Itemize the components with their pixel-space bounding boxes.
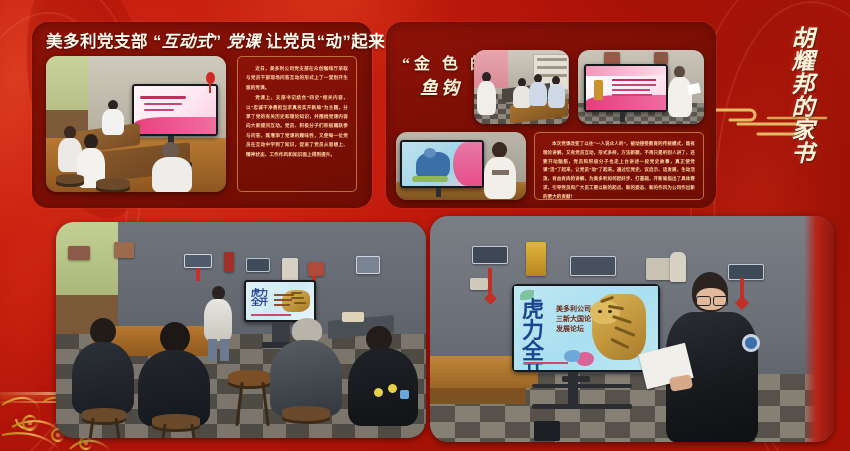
left-panel-photo[interactable] [46,56,226,192]
right-panel-photo-storytelling[interactable] [396,132,526,200]
screen-title-text: 虎力全开 [251,289,273,307]
photo-scene [46,56,226,192]
title-segment-3: 起来 [351,33,385,51]
article-paragraph: 近日，美多利公司党支部在众创咖啡厅采取与党员干部现场问答互动的形式上了一堂别开生… [246,64,348,92]
screen-subtitle-line-1: 美多利公司 [556,306,591,315]
right-panel-photo-discussion[interactable] [474,50,569,124]
poster-root: 美多利党支部 “互动式” 党课 让党员“动”起来 [0,0,850,451]
title-quote-open-2: “ [317,33,326,51]
photo-scene [474,50,569,124]
lantern-icon [206,72,215,84]
photo-scene: 虎力全开 美多利公司 三新大国论 发展论坛 [430,216,834,442]
right-panel-article: 本次党课改变了以往“一人说众人听”，被动接受教育的传统模式，既有理论讲解，又有党… [534,132,704,200]
title-segment-2: 让党员 [266,33,317,51]
article-paragraph: 党课上，支部书记结合“四史”相关内容，以“忠诚干净勇担当求真务实开新局”为主题，… [246,93,348,159]
article-paragraph: 本次党课改变了以往“一人说众人听”，被动接受教育的传统模式，既有理论讲解，又有党… [543,140,695,201]
gold-cloud-ornament-icon [712,98,832,144]
title-quote-open: “ [153,33,162,51]
screen-subtitle-line-2: 三新大国论 [556,316,591,325]
right-panel-photo-presenter[interactable] [578,50,704,124]
title-quote-close-2: ” [343,33,352,51]
title-segment: 美多利党支部 [46,33,148,51]
left-feature-panel: 美多利党支部 “互动式” 党课 让党员“动”起来 [32,22,372,208]
left-panel-article: 近日，美多利公司党支部在众创咖啡厅采取与党员干部现场问答互动的形式上了一堂别开生… [237,56,357,192]
photo-scene: 虎力全开 [56,222,426,438]
presenter-reading-photo[interactable]: 虎力全开 美多利公司 三新大国论 发展论坛 [430,216,834,442]
title-emphasis: 动 [326,33,343,51]
vertical-calligraphy-title: 胡耀邦的家书 [780,26,814,164]
screen-title-text: 虎力全开 [522,300,552,370]
title-quote-close: ” [213,33,222,51]
right-panel-title-line2: 鱼钩 [420,74,462,100]
right-feature-panel: “金 色 的” 鱼钩 [386,22,716,208]
photo-scene [578,50,704,124]
title-brush-text: 互动式 [162,32,213,51]
left-panel-title: 美多利党支部 “互动式” 党课 让党员“动”起来 [46,28,362,52]
title-brush-text-2: 党课 [227,32,261,51]
photo-scene [396,132,526,200]
screen-subtitle-line-3: 发展论坛 [556,326,584,335]
classroom-audience-photo[interactable]: 虎力全开 [56,222,426,438]
